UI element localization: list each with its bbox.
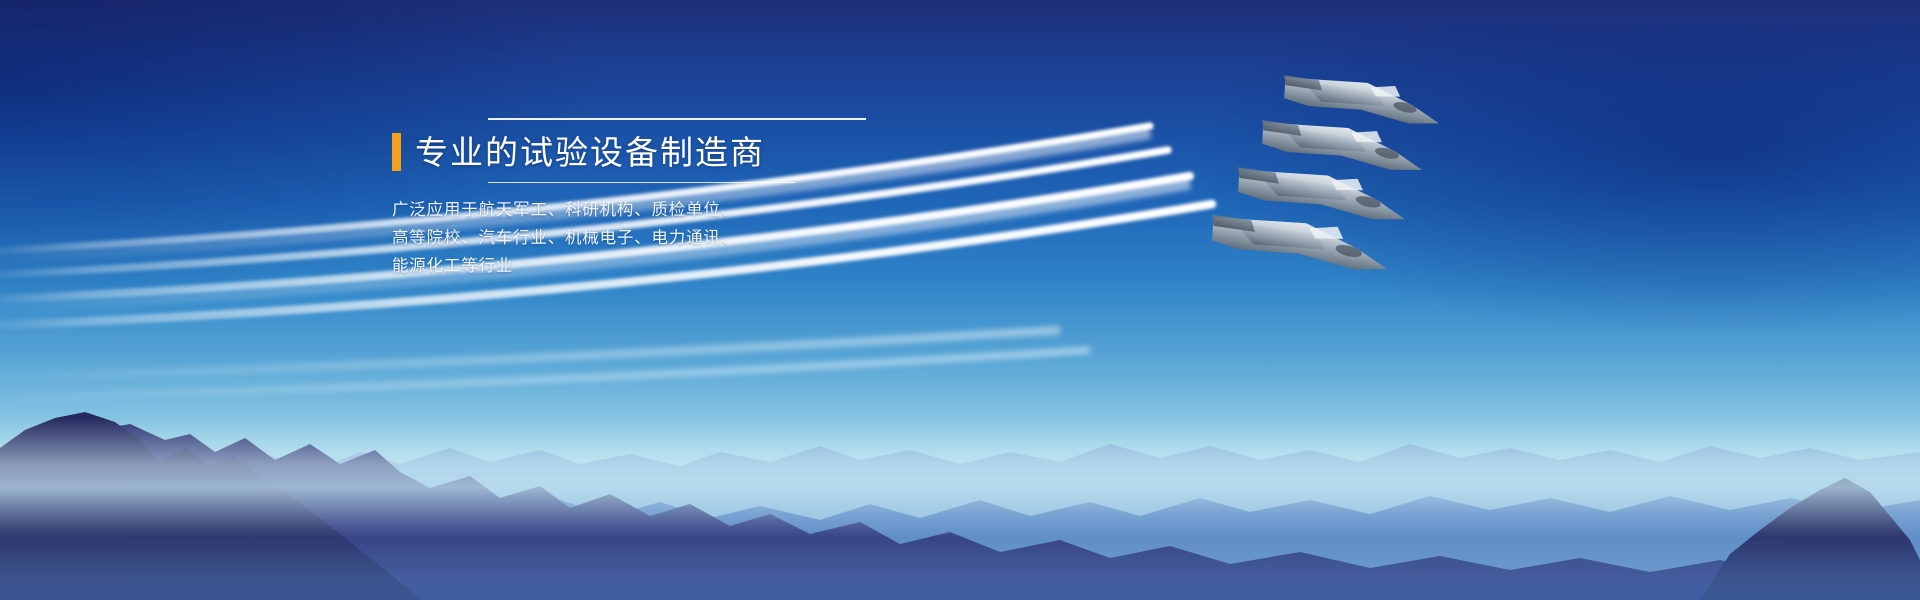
subcopy-line: 广泛应用于航天军工、科研机构、质检单位、: [392, 196, 812, 224]
accent-bar-icon: [392, 133, 401, 171]
headline-rule-top: [488, 118, 866, 120]
jet-formation: [1135, 45, 1495, 275]
mountain-range: [0, 340, 1920, 600]
subcopy-line: 高等院校、汽车行业、机械电子、电力通讯、: [392, 224, 812, 252]
banner-subcopy: 广泛应用于航天军工、科研机构、质检单位、 高等院校、汽车行业、机械电子、电力通讯…: [392, 196, 812, 280]
headline-rule-bottom: [488, 182, 795, 183]
banner-headline: 专业的试验设备制造商: [415, 136, 765, 169]
hero-banner: 专业的试验设备制造商 广泛应用于航天军工、科研机构、质检单位、 高等院校、汽车行…: [0, 0, 1920, 600]
headline-row: 专业的试验设备制造商: [392, 133, 812, 171]
banner-copy-block: 专业的试验设备制造商 广泛应用于航天军工、科研机构、质检单位、 高等院校、汽车行…: [392, 118, 812, 280]
subcopy-line: 能源化工等行业: [392, 252, 812, 280]
